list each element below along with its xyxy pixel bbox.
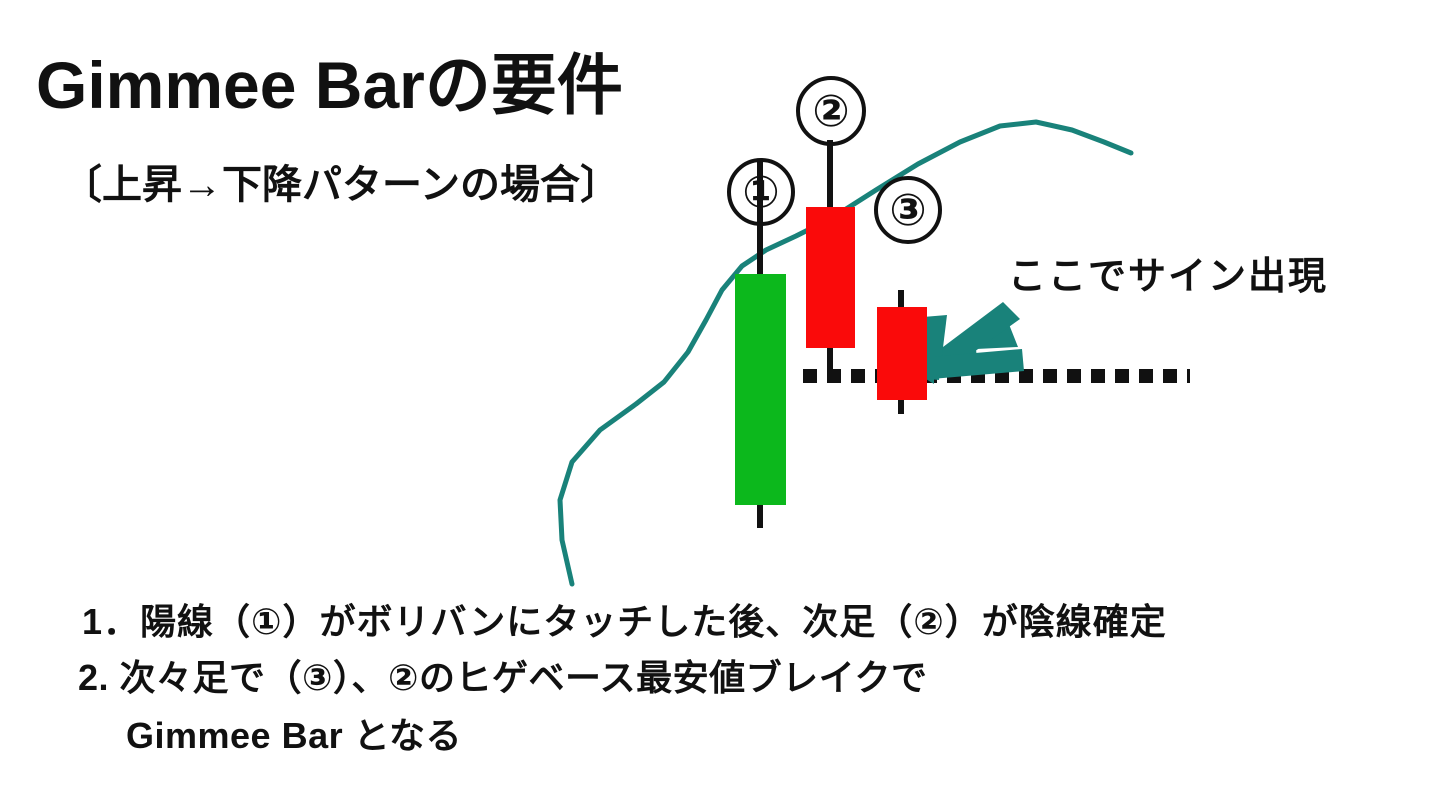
- marker-circle-2: ②: [796, 76, 866, 146]
- candle-2-body: [806, 207, 855, 348]
- rule-item-3: Gimmee Bar となる: [126, 718, 1408, 754]
- signal-annotation-label: ここでサイン出現: [1008, 258, 1328, 296]
- marker-circle-1: ①: [727, 158, 795, 226]
- rule-item-1: 1．陽線（①）がボリバンにタッチした後、次足（②）が陰線確定: [82, 604, 1408, 640]
- rule-item-2: 2. 次々足で（③）、②のヒゲベース最安値ブレイクで: [78, 660, 1408, 696]
- candle-1-body: [735, 274, 786, 505]
- candle-3-body: [877, 307, 927, 400]
- rules-list: 1．陽線（①）がボリバンにタッチした後、次足（②）が陰線確定 2. 次々足で（③…: [78, 604, 1408, 754]
- bollinger-band-curve: [560, 122, 1131, 584]
- slide-canvas: Gimmee Barの要件 〔上昇→下降パターンの場合〕 ① ② ③ ここでサイ…: [0, 0, 1440, 807]
- marker-circle-3: ③: [874, 176, 942, 244]
